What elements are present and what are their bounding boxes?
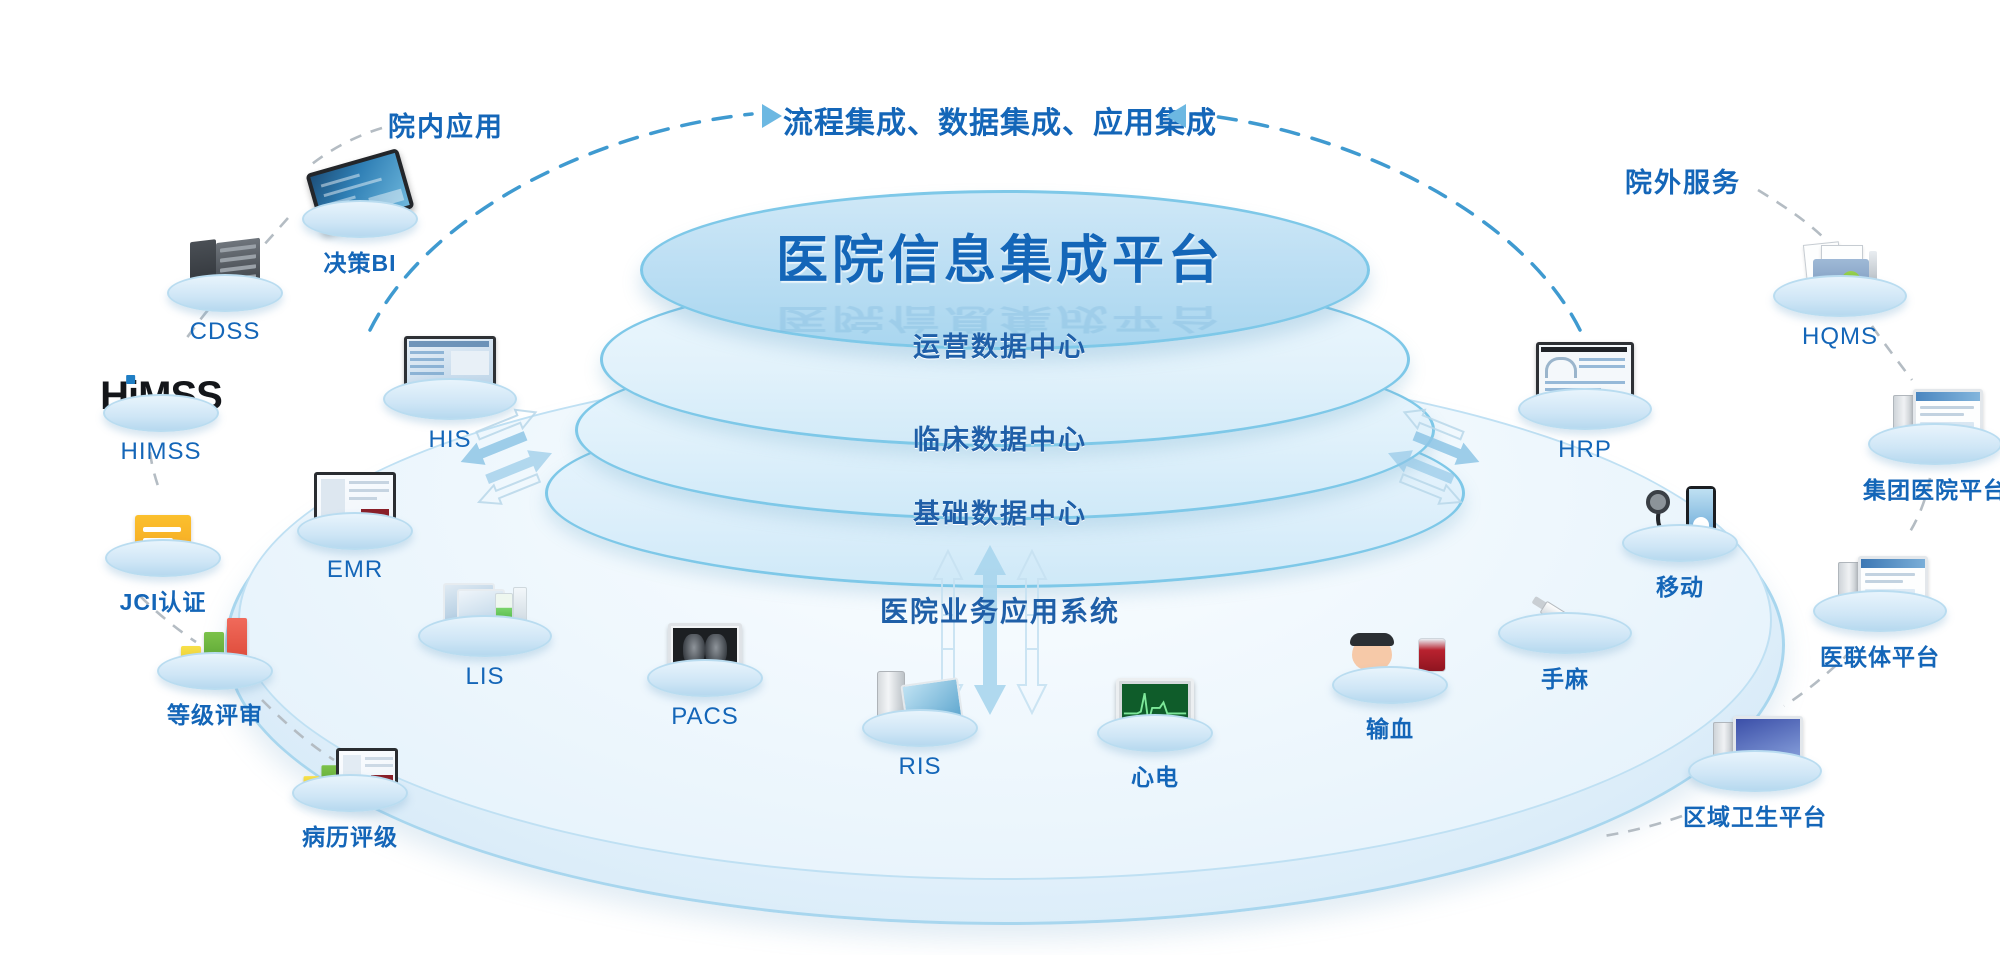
node-label: 区域卫生平台 bbox=[1683, 798, 1827, 832]
node-pacs[interactable]: PACS bbox=[640, 605, 770, 697]
node-label: EMR bbox=[327, 556, 383, 584]
node-regional-health-platform[interactable]: 区域卫生平台 bbox=[1690, 700, 1820, 792]
node-hqms[interactable]: HQMS bbox=[1775, 225, 1905, 317]
page-title: 医院信息集成平台 bbox=[776, 218, 1224, 293]
section-header-external: 院外服务 bbox=[1625, 161, 1741, 200]
node-cdss[interactable]: CDSS bbox=[160, 220, 290, 312]
section-header-internal: 院内应用 bbox=[388, 105, 504, 144]
layer-label-clinical-data-center: 临床数据中心 bbox=[913, 418, 1087, 457]
node-lis[interactable]: LIS bbox=[420, 565, 550, 657]
integration-banner-text: 流程集成、数据集成、应用集成 bbox=[783, 98, 1217, 142]
node-label: HIMSS bbox=[120, 438, 201, 466]
node-hrp[interactable]: HRP bbox=[1520, 330, 1650, 430]
node-label: 集团医院平台 bbox=[1863, 471, 2000, 505]
node-group-hospital-platform[interactable]: 集团医院平台 bbox=[1870, 370, 2000, 465]
node-label: HIS bbox=[428, 426, 471, 454]
node-grade-review[interactable]: 等级评审 bbox=[150, 598, 280, 690]
node-label: HQMS bbox=[1802, 323, 1878, 351]
node-his[interactable]: HIS bbox=[385, 320, 515, 420]
node-medical-record-rating[interactable]: 病历评级 bbox=[285, 720, 415, 812]
node-ecg[interactable]: 心电 bbox=[1090, 660, 1220, 752]
node-label: 医联体平台 bbox=[1820, 638, 1940, 672]
node-label: 心电 bbox=[1131, 758, 1179, 792]
node-label: 移动 bbox=[1656, 568, 1704, 602]
node-label: 病历评级 bbox=[302, 818, 398, 852]
node-decision-bi[interactable]: 决策BI bbox=[295, 148, 425, 238]
node-label: 等级评审 bbox=[167, 696, 263, 730]
page-title-reflection: 医院信息集成平台 bbox=[776, 301, 1224, 342]
arrow-right-icon bbox=[762, 104, 782, 128]
node-label: 手麻 bbox=[1541, 660, 1589, 694]
node-ris[interactable]: RIS bbox=[855, 655, 985, 747]
node-blood-transfusion[interactable]: 输血 bbox=[1325, 612, 1455, 704]
node-anesthesia[interactable]: 手麻 bbox=[1500, 562, 1630, 654]
node-label: PACS bbox=[671, 703, 739, 731]
node-himss[interactable]: HiMSS HIMSS bbox=[96, 340, 226, 432]
node-label: 决策BI bbox=[324, 244, 397, 278]
arrow-left-icon bbox=[1166, 104, 1186, 128]
node-label: HRP bbox=[1558, 436, 1612, 464]
node-mobile[interactable]: 移动 bbox=[1615, 470, 1745, 562]
business-systems-label: 医院业务应用系统 bbox=[880, 590, 1120, 630]
node-emr[interactable]: EMR bbox=[290, 458, 420, 550]
node-medical-union-platform[interactable]: 医联体平台 bbox=[1815, 540, 1945, 632]
node-jci-certification[interactable]: JCI认证 bbox=[98, 485, 228, 577]
node-label: RIS bbox=[898, 753, 941, 781]
layer-label-base-data-center: 基础数据中心 bbox=[913, 492, 1087, 531]
diagram-canvas: 医院信息集成平台 医院信息集成平台 运营数据中心 临床数据中心 基础数据中心 医… bbox=[0, 0, 2000, 955]
node-label: 输血 bbox=[1366, 710, 1414, 744]
node-label: LIS bbox=[465, 663, 504, 691]
